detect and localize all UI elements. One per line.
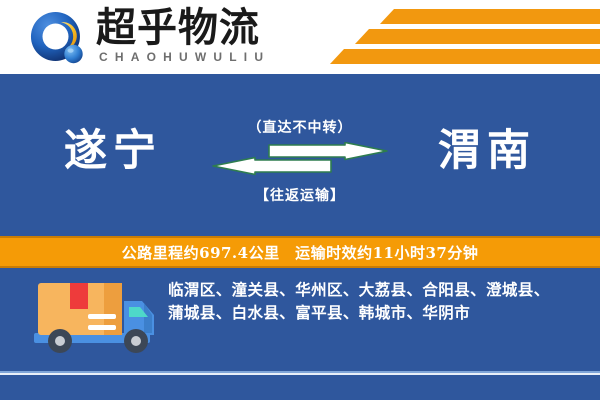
coverage-line-2: 蒲城县、白水县、富平县、韩城市、华阴市 (168, 301, 588, 324)
logistics-route-banner: 超乎物流 CHAOHUWULIU 遂宁 （直达不中转） 【往返运输】 渭 (0, 0, 600, 400)
road-line-lower (0, 373, 600, 375)
orange-speed-stripes-icon (310, 8, 600, 68)
route-middle: （直达不中转） 【往返运输】 (205, 100, 395, 210)
banner-text: 公路里程约697.4公里 运输时效约11小时37分钟 (122, 242, 479, 263)
distance-duration-banner: 公路里程约697.4公里 运输时效约11小时37分钟 (0, 236, 600, 268)
road-divider-line (0, 371, 600, 376)
circle-q-logo-icon (28, 9, 88, 69)
route-note-top: （直达不中转） (205, 117, 395, 137)
destination-city: 渭南 (392, 122, 582, 180)
route-note-bottom: 【往返运输】 (205, 185, 395, 205)
stripe-2 (355, 29, 600, 44)
brand-name-en: CHAOHUWULIU (99, 50, 270, 64)
coverage-area-list: 临渭区、潼关县、华州区、大荔县、合阳县、澄城县、 蒲城县、白水县、富平县、韩城市… (168, 278, 588, 324)
delivery-truck-icon (26, 277, 162, 365)
stripe-3 (330, 49, 600, 64)
stripe-1 (380, 9, 600, 24)
route-row: 遂宁 （直达不中转） 【往返运输】 渭南 (0, 100, 600, 210)
header: 超乎物流 CHAOHUWULIU (0, 0, 600, 74)
coverage-line-1: 临渭区、潼关县、华州区、大荔县、合阳县、澄城县、 (168, 278, 588, 301)
bidirectional-arrow-icon (211, 142, 389, 176)
brand-name-cn: 超乎物流 (96, 6, 260, 50)
origin-city: 遂宁 (18, 122, 208, 180)
